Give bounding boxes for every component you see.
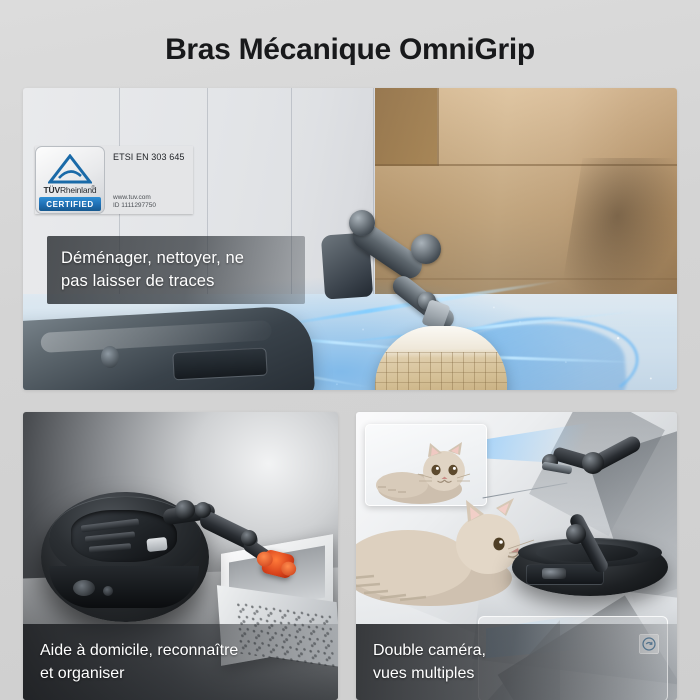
- arm-joint-elbow: [411, 234, 441, 264]
- hero-caption: Déménager, nettoyer, ne pas laisser de t…: [47, 236, 305, 304]
- camera-arm-joint-base: [566, 524, 586, 544]
- mop-pad-weave-texture: [375, 352, 507, 390]
- arm-joint-shoulder: [349, 210, 375, 236]
- tuv-website: www.tuv.com: [113, 194, 156, 202]
- home-assistance-caption-line-2: et organiser: [40, 662, 338, 685]
- dual-camera-caption: Double caméra, vues multiples: [356, 624, 677, 700]
- cat-illustration: [356, 494, 538, 610]
- page-title: Bras Mécanique OmniGrip: [0, 33, 700, 67]
- tuv-registered-mark: ®: [91, 185, 95, 191]
- wood-cabinet-edge-v: [437, 88, 439, 166]
- hero-caption-line-2: pas laisser de traces: [61, 270, 305, 293]
- tuv-id: ID 1111297750: [113, 202, 156, 210]
- wood-cabinet-recess: [375, 88, 437, 166]
- tuv-footer: www.tuv.com ID 1111297750: [113, 194, 156, 210]
- robot-vacuum-sensor-small: [103, 586, 113, 596]
- tuv-logo-mark: TÜVRheinland ® CERTIFIED: [35, 146, 105, 214]
- dual-camera-caption-line-1: Double caméra,: [373, 639, 677, 662]
- tuv-info-block: ETSI EN 303 645 www.tuv.com ID 111129775…: [105, 146, 193, 214]
- tuv-certification-badge: TÜVRheinland ® CERTIFIED ETSI EN 303 645…: [35, 146, 193, 214]
- robot-vacuum-side-skirt: [49, 566, 199, 608]
- arm-joint-mid: [195, 502, 211, 518]
- robot-vent-grille: [172, 348, 267, 381]
- arm-joint-end: [241, 530, 257, 546]
- camera-arm-joint-mid: [582, 452, 604, 474]
- robot-vacuum-button: [146, 537, 167, 552]
- wall-seam-4: [373, 88, 374, 300]
- home-assistance-panel: Aide à domicile, reconnaître et organise…: [23, 412, 338, 700]
- dual-camera-panel: Double caméra, vues multiples: [356, 412, 677, 700]
- mop-pad: [375, 326, 507, 390]
- home-assistance-caption: Aide à domicile, reconnaître et organise…: [23, 624, 338, 700]
- tuv-certified-label: CERTIFIED: [39, 197, 101, 211]
- arm-joint-base: [175, 500, 195, 520]
- robot-front-camera-lens: [542, 568, 566, 579]
- hero-panel: TÜVRheinland ® CERTIFIED ETSI EN 303 645…: [23, 88, 677, 390]
- tuv-logo-text: TÜVRheinland: [44, 185, 97, 195]
- robot-vacuum-sensor: [73, 580, 95, 596]
- home-assistance-caption-line-1: Aide à domicile, reconnaître: [40, 639, 338, 662]
- dual-camera-caption-line-2: vues multiples: [373, 662, 677, 685]
- tuv-triangle-icon: [48, 154, 92, 184]
- robot-vacuum-body: [23, 305, 315, 390]
- hero-caption-line-1: Déménager, nettoyer, ne: [61, 247, 305, 270]
- tuv-standard-text: ETSI EN 303 645: [113, 152, 193, 162]
